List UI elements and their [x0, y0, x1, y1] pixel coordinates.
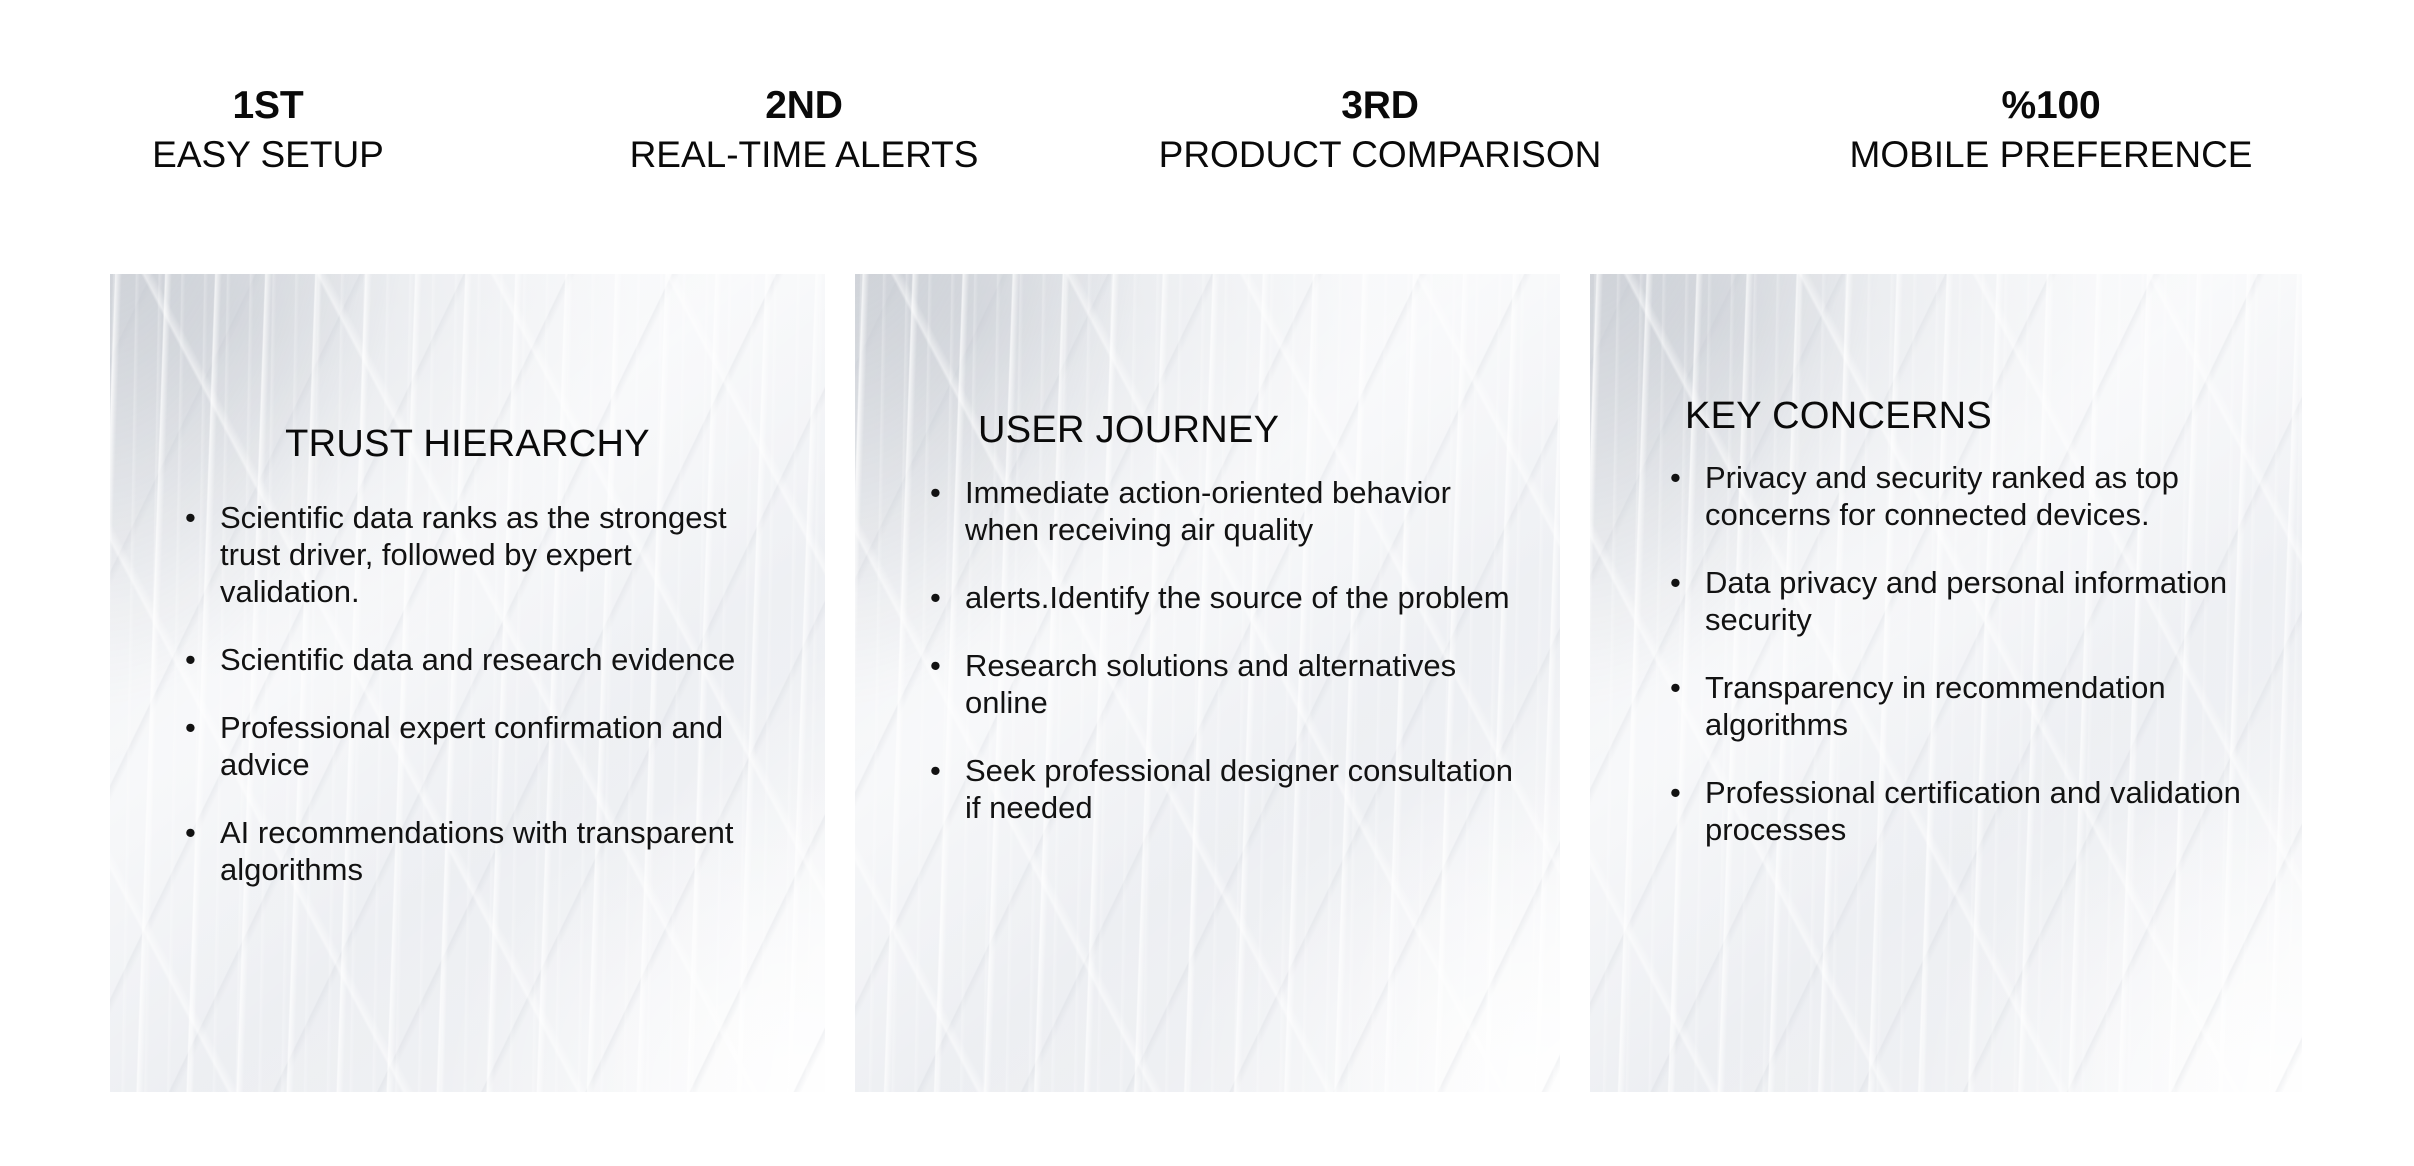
bullet-dot-icon: •: [930, 752, 941, 789]
list-item: • Professional expert confirmation and a…: [185, 709, 775, 783]
list-item: • Seek professional designer consultatio…: [930, 752, 1515, 826]
card-title: TRUST HIERARCHY: [110, 422, 825, 466]
list-item-text: Immediate action-oriented behavior when …: [965, 475, 1451, 547]
list-item: • Transparency in recommendation algorit…: [1670, 669, 2265, 743]
list-item-text: Professional certification and validatio…: [1705, 775, 2241, 847]
list-item: • AI recommendations with transparent al…: [185, 814, 775, 888]
card-content: KEY CONCERNS • Privacy and security rank…: [1590, 274, 2302, 1092]
bullet-dot-icon: •: [1670, 564, 1681, 601]
list-item: • Professional certification and validat…: [1670, 774, 2265, 848]
stat-value: 3RD: [1072, 84, 1688, 128]
list-item: • Scientific data ranks as the strongest…: [185, 499, 775, 610]
list-item-text: Research solutions and alternatives onli…: [965, 648, 1456, 720]
stat-item-4: %100 MOBILE PREFERENCE: [1688, 84, 2414, 178]
bullet-list: • Immediate action-oriented behavior whe…: [930, 474, 1515, 826]
stat-label: REAL-TIME ALERTS: [536, 132, 1072, 178]
bullet-dot-icon: •: [1670, 459, 1681, 496]
list-item-text: Scientific data and research evidence: [220, 642, 735, 677]
stat-value: 1ST: [0, 84, 536, 128]
card-trust-hierarchy: TRUST HIERARCHY • Scientific data ranks …: [110, 274, 825, 1092]
list-item-text: Professional expert confirmation and adv…: [220, 710, 723, 782]
bullet-dot-icon: •: [185, 641, 196, 678]
stat-value: %100: [1688, 84, 2414, 128]
list-item: • Immediate action-oriented behavior whe…: [930, 474, 1515, 548]
bullet-dot-icon: •: [1670, 669, 1681, 706]
stat-value: 2ND: [536, 84, 1072, 128]
list-item: • alerts.Identify the source of the prob…: [930, 579, 1515, 616]
list-item: • Scientific data and research evidence: [185, 641, 775, 678]
list-item-text: AI recommendations with transparent algo…: [220, 815, 733, 887]
bullet-dot-icon: •: [930, 474, 941, 511]
list-item: • Data privacy and personal information …: [1670, 564, 2265, 638]
list-item: • Research solutions and alternatives on…: [930, 647, 1515, 721]
list-item-text: Seek professional designer consultation …: [965, 753, 1513, 825]
card-user-journey: USER JOURNEY • Immediate action-oriented…: [855, 274, 1560, 1092]
bullet-dot-icon: •: [185, 709, 196, 746]
list-item-text: Privacy and security ranked as top conce…: [1705, 460, 2179, 532]
card-title: USER JOURNEY: [978, 408, 1279, 452]
list-item-text: Scientific data ranks as the strongest t…: [220, 500, 727, 609]
stat-item-1: 1ST EASY SETUP: [0, 84, 536, 178]
bullet-dot-icon: •: [1670, 774, 1681, 811]
bullet-dot-icon: •: [930, 579, 941, 616]
list-item-text: alerts.Identify the source of the proble…: [965, 580, 1510, 615]
bullet-dot-icon: •: [185, 499, 196, 536]
stat-label: PRODUCT COMPARISON: [1072, 132, 1688, 178]
stat-label: MOBILE PREFERENCE: [1688, 132, 2414, 178]
list-item-text: Transparency in recommendation algorithm…: [1705, 670, 2166, 742]
card-key-concerns: KEY CONCERNS • Privacy and security rank…: [1590, 274, 2302, 1092]
bullet-dot-icon: •: [930, 647, 941, 684]
cards-row: TRUST HIERARCHY • Scientific data ranks …: [110, 274, 2302, 1092]
stat-item-2: 2ND REAL-TIME ALERTS: [536, 84, 1072, 178]
stat-label: EASY SETUP: [0, 132, 536, 178]
stats-row: 1ST EASY SETUP 2ND REAL-TIME ALERTS 3RD …: [0, 84, 2414, 194]
list-item-text: Data privacy and personal information se…: [1705, 565, 2227, 637]
bullet-dot-icon: •: [185, 814, 196, 851]
card-content: TRUST HIERARCHY • Scientific data ranks …: [110, 274, 825, 1092]
list-item: • Privacy and security ranked as top con…: [1670, 459, 2265, 533]
bullet-list: • Scientific data ranks as the strongest…: [185, 499, 775, 888]
card-title: KEY CONCERNS: [1685, 394, 1992, 438]
bullet-list: • Privacy and security ranked as top con…: [1670, 459, 2265, 848]
card-content: USER JOURNEY • Immediate action-oriented…: [855, 274, 1560, 1092]
stat-item-3: 3RD PRODUCT COMPARISON: [1072, 84, 1688, 178]
